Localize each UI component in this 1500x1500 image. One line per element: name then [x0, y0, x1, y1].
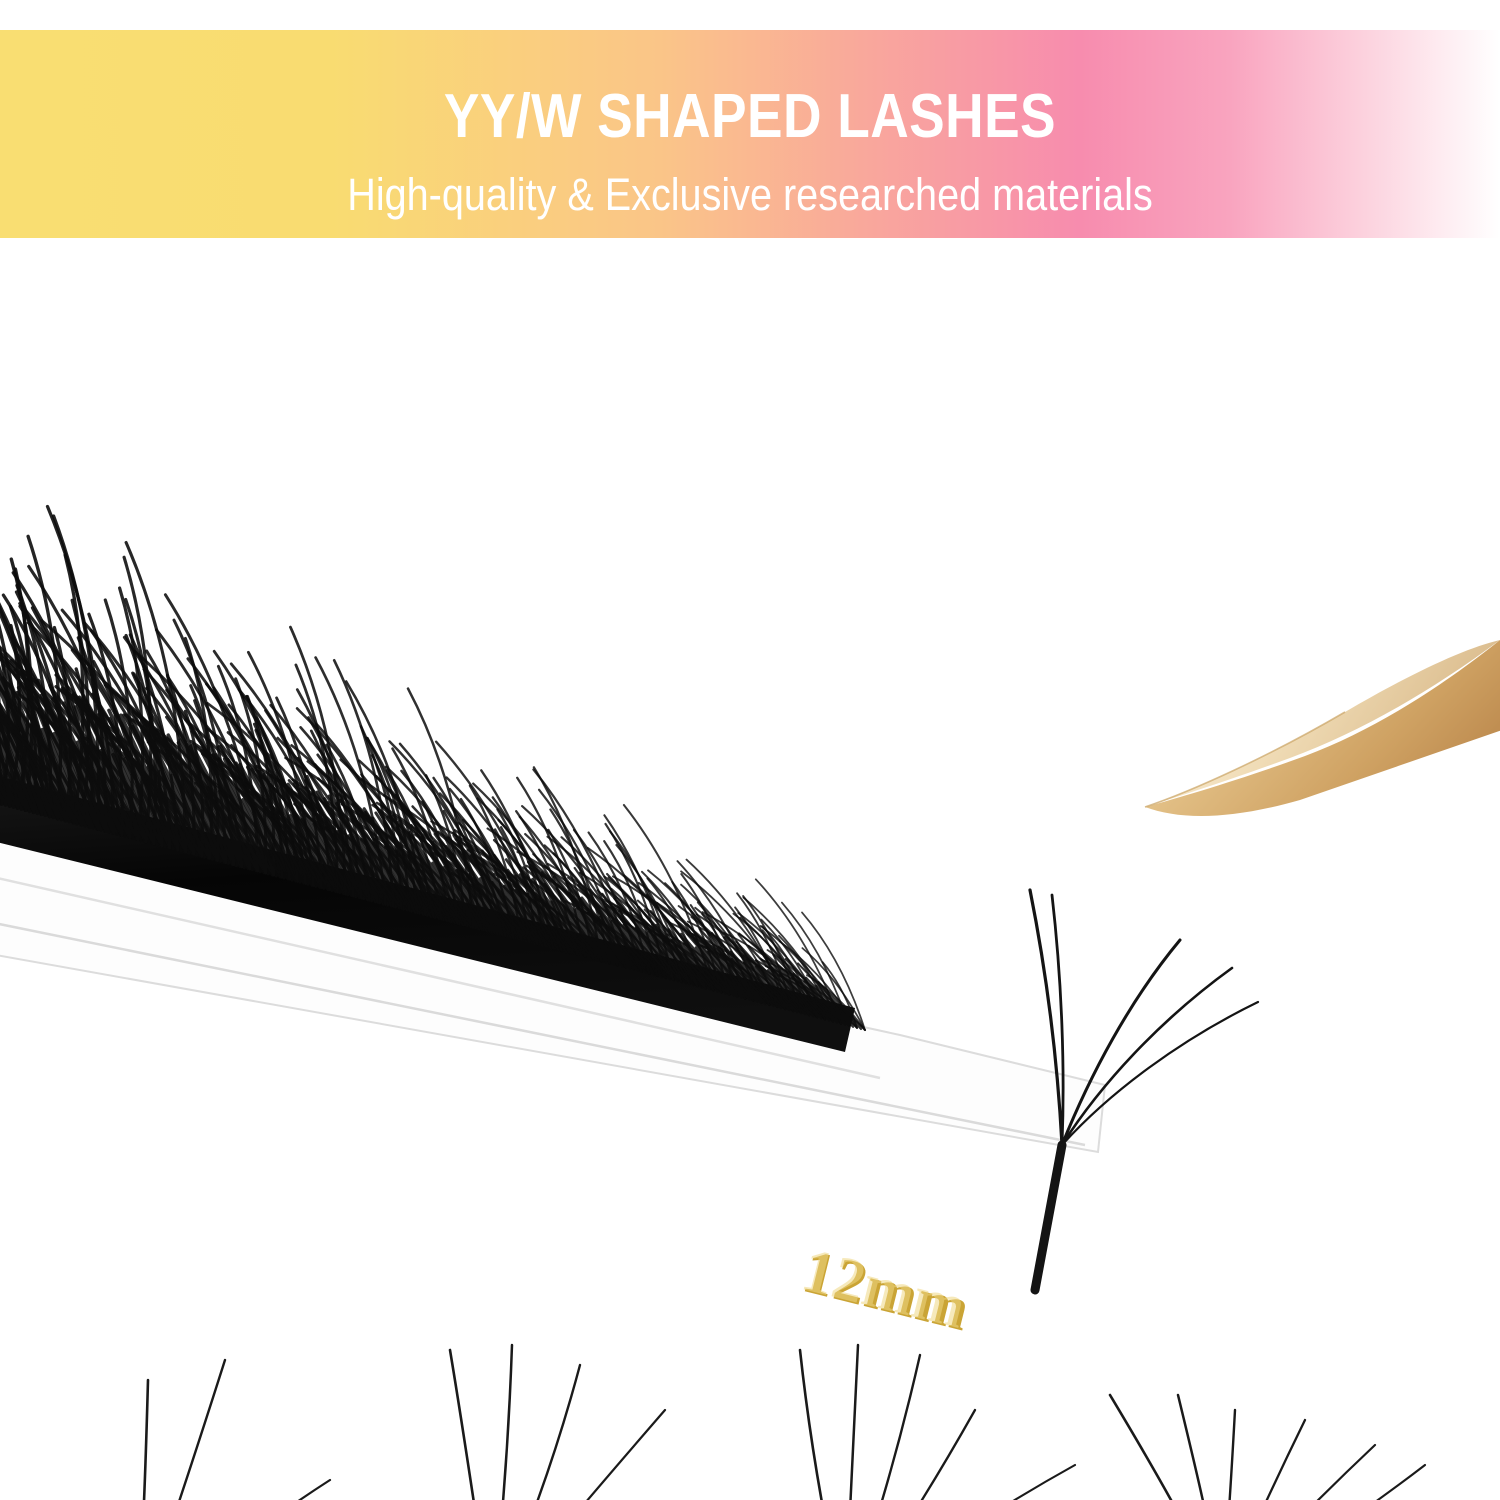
page-subtitle: High-quality & Exclusive researched mate…: [90, 172, 1410, 217]
header-banner: YY/W SHAPED LASHES High-quality & Exclus…: [0, 30, 1500, 238]
page-title: YY/W SHAPED LASHES: [105, 86, 1395, 148]
lash-photo-illustration: {} 12mm 12mm: [0, 240, 1500, 1500]
product-photo: {} 12mm 12mm: [0, 240, 1500, 1500]
